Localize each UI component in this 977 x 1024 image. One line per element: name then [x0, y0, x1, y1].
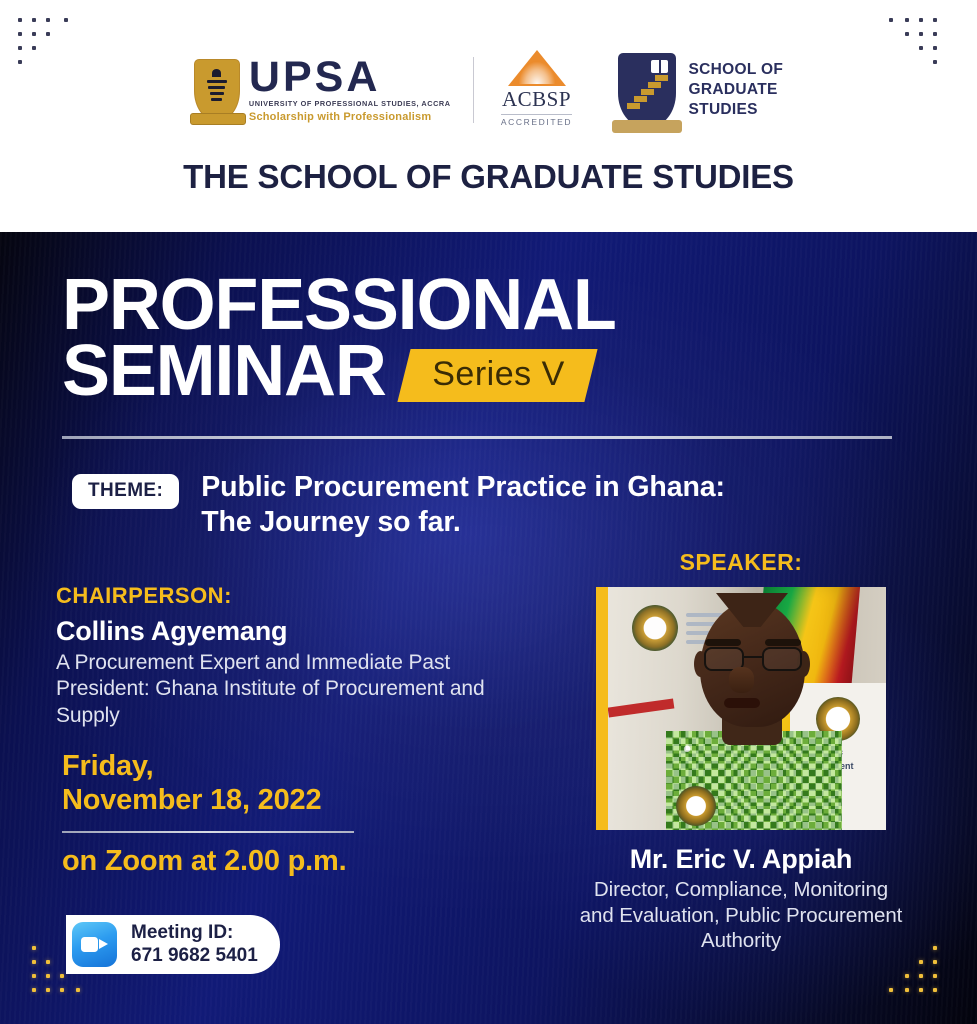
seminar-flyer: UPSA UNIVERSITY OF PROFESSIONAL STUDIES,…	[0, 0, 977, 1024]
meeting-id-pill[interactable]: Meeting ID: 671 9682 5401	[66, 915, 280, 974]
speaker-block: SPEAKER: Public Procurement Authority	[545, 549, 937, 954]
theme-line-1: Public Procurement Practice in Ghana:	[201, 470, 725, 505]
speaker-title: Director, Compliance, Monitoring and Eva…	[545, 877, 937, 954]
speaker-name: Mr. Eric V. Appiah	[545, 844, 937, 875]
sgs-line-2: GRADUATE	[689, 80, 784, 100]
zoom-video-icon	[72, 922, 117, 967]
dot-pattern-bottom-right	[889, 946, 959, 1002]
speaker-title-line-2: and Evaluation, Public Procurement	[545, 903, 937, 929]
theme-badge: THEME:	[72, 474, 179, 509]
sgs-shield-icon	[618, 53, 676, 127]
logo-divider	[473, 57, 474, 123]
staircase-icon	[627, 67, 668, 109]
chairperson-name: Collins Agyemang	[56, 616, 526, 647]
dot-pattern-top-left	[18, 18, 88, 74]
speaker-portrait	[666, 593, 842, 830]
acbsp-wordmark: ACBSP	[496, 87, 578, 112]
acbsp-logo: ACBSP ACCREDITED	[496, 50, 578, 130]
upsa-tagline: Scholarship with Professionalism	[249, 111, 451, 123]
upsa-shield-icon	[194, 59, 240, 121]
logo-row: UPSA UNIVERSITY OF PROFESSIONAL STUDIES,…	[0, 44, 977, 136]
speaker-photo: Public Procurement Authority	[608, 587, 886, 830]
upsa-wordmark: UPSA	[249, 57, 451, 98]
theme-text: Public Procurement Practice in Ghana: Th…	[201, 470, 725, 540]
acbsp-triangle-icon	[508, 50, 566, 86]
acbsp-accredited-label: ACCREDITED	[501, 114, 572, 127]
header-divider-rule	[62, 436, 892, 439]
flyer-header: UPSA UNIVERSITY OF PROFESSIONAL STUDIES,…	[0, 0, 977, 232]
event-day: Friday,	[62, 750, 321, 784]
series-badge-label: Series V	[432, 355, 565, 394]
chairperson-description: A Procurement Expert and Immediate Past …	[56, 650, 526, 729]
sgs-line-3: STUDIES	[689, 100, 784, 120]
event-date-block: Friday, November 18, 2022	[62, 750, 321, 817]
page-title: THE SCHOOL OF GRADUATE STUDIES	[0, 158, 977, 196]
speaker-title-line-3: Authority	[545, 928, 937, 954]
event-date: November 18, 2022	[62, 784, 321, 818]
sgs-line-1: SCHOOL OF	[689, 60, 784, 80]
theme-row: THEME: Public Procurement Practice in Gh…	[72, 470, 725, 540]
meeting-id-label: Meeting ID:	[131, 922, 258, 945]
sgs-wordmark: SCHOOL OF GRADUATE STUDIES	[689, 60, 784, 119]
speaker-photo-frame: Public Procurement Authority	[596, 587, 886, 830]
speaker-title-line-1: Director, Compliance, Monitoring	[545, 877, 937, 903]
dot-pattern-top-right	[889, 18, 959, 74]
backdrop-red-band	[608, 698, 674, 717]
upsa-subtitle: UNIVERSITY OF PROFESSIONAL STUDIES, ACCR…	[249, 99, 451, 108]
shirt-seal-icon	[676, 786, 716, 826]
sgs-logo: SCHOOL OF GRADUATE STUDIES	[618, 53, 784, 127]
series-badge: Series V	[397, 349, 597, 402]
chairperson-block: CHAIRPERSON: Collins Agyemang A Procurem…	[56, 583, 526, 729]
upsa-logo: UPSA UNIVERSITY OF PROFESSIONAL STUDIES,…	[194, 57, 451, 124]
seminar-title-block: PROFESSIONAL SEMINAR Series V	[62, 272, 616, 404]
chairperson-label: CHAIRPERSON:	[56, 583, 526, 609]
meeting-id-value: 671 9682 5401	[131, 945, 258, 968]
meeting-id-text: Meeting ID: 671 9682 5401	[131, 922, 258, 968]
event-platform-time: on Zoom at 2.00 p.m.	[62, 845, 346, 878]
date-divider-rule	[62, 831, 354, 833]
seminar-title-line-2: SEMINAR	[62, 338, 386, 404]
eyeglasses-icon	[704, 647, 802, 671]
seminar-title-line-1: PROFESSIONAL	[62, 272, 616, 338]
speaker-label: SPEAKER:	[545, 549, 937, 576]
theme-line-2: The Journey so far.	[201, 505, 725, 540]
